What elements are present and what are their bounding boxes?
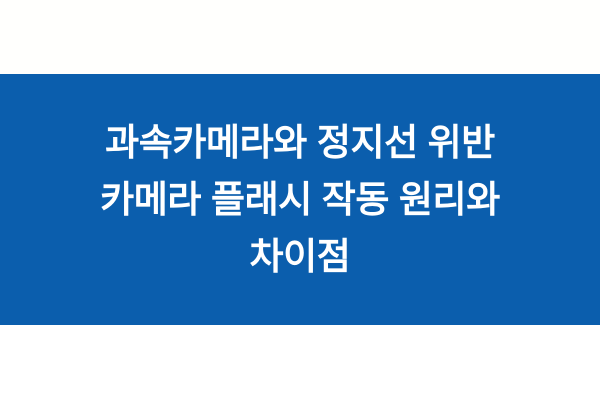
banner-title-line-3: 차이점 xyxy=(24,228,576,285)
banner-title-line-1: 과속카메라와 정지선 위반 xyxy=(24,114,576,171)
title-banner: 과속카메라와 정지선 위반 카메라 플래시 작동 원리와 차이점 xyxy=(0,74,600,325)
top-margin-spacer xyxy=(0,0,600,74)
banner-title-line-2: 카메라 플래시 작동 원리와 xyxy=(24,171,576,228)
banner-canvas: 과속카메라와 정지선 위반 카메라 플래시 작동 원리와 차이점 xyxy=(0,0,600,400)
banner-title: 과속카메라와 정지선 위반 카메라 플래시 작동 원리와 차이점 xyxy=(24,114,576,285)
bottom-margin-spacer xyxy=(0,325,600,400)
